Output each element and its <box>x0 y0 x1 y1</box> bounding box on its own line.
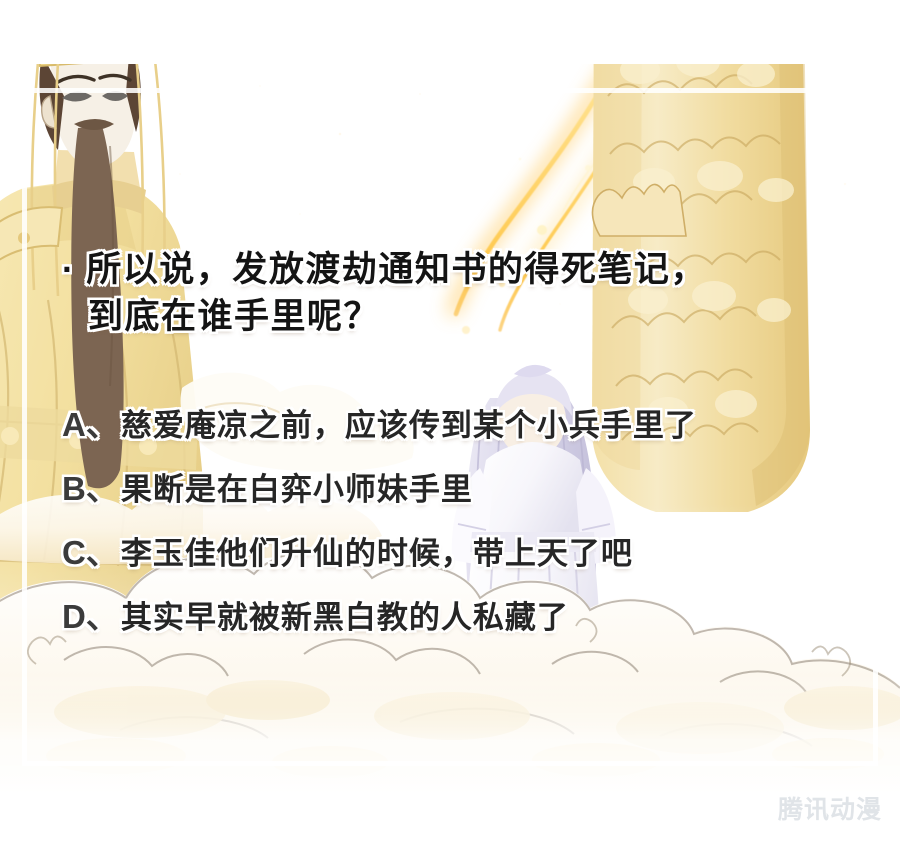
option-a-letter: A、 <box>62 398 119 446</box>
option-b[interactable]: B、 果断是在白弈小师妹手里 <box>62 462 872 526</box>
option-b-text: 果断是在白弈小师妹手里 <box>121 464 473 509</box>
option-c-text: 李玉佳他们升仙的时候，带上天了吧 <box>121 528 633 573</box>
tencent-comics-watermark: 腾讯动漫 <box>778 790 882 826</box>
option-a[interactable]: A、 慈爱庵凉之前，应该传到某个小兵手里了 <box>62 398 872 462</box>
question-line-2: 到底在谁手里呢？ <box>62 293 862 340</box>
option-c-letter: C、 <box>62 526 119 574</box>
question-bullet-marker: · <box>62 250 75 289</box>
answer-options-list: A、 慈爱庵凉之前，应该传到某个小兵手里了 B、 果断是在白弈小师妹手里 C、 … <box>62 398 872 654</box>
option-d-text: 其实早就被新黑白教的人私藏了 <box>121 592 569 637</box>
question-text: · 所以说，发放渡劫通知书的得死笔记， 到底在谁手里呢？ <box>62 246 862 340</box>
option-b-letter: B、 <box>62 462 119 510</box>
option-c[interactable]: C、 李玉佳他们升仙的时候，带上天了吧 <box>62 526 872 590</box>
option-d-letter: D、 <box>62 590 119 638</box>
question-line-1: 所以说，发放渡劫通知书的得死笔记， <box>86 250 707 289</box>
comic-panel-page: · 所以说，发放渡劫通知书的得死笔记， 到底在谁手里呢？ A、 慈爱庵凉之前，应… <box>0 0 900 844</box>
option-d[interactable]: D、 其实早就被新黑白教的人私藏了 <box>62 590 872 654</box>
option-a-text: 慈爱庵凉之前，应该传到某个小兵手里了 <box>121 400 697 445</box>
